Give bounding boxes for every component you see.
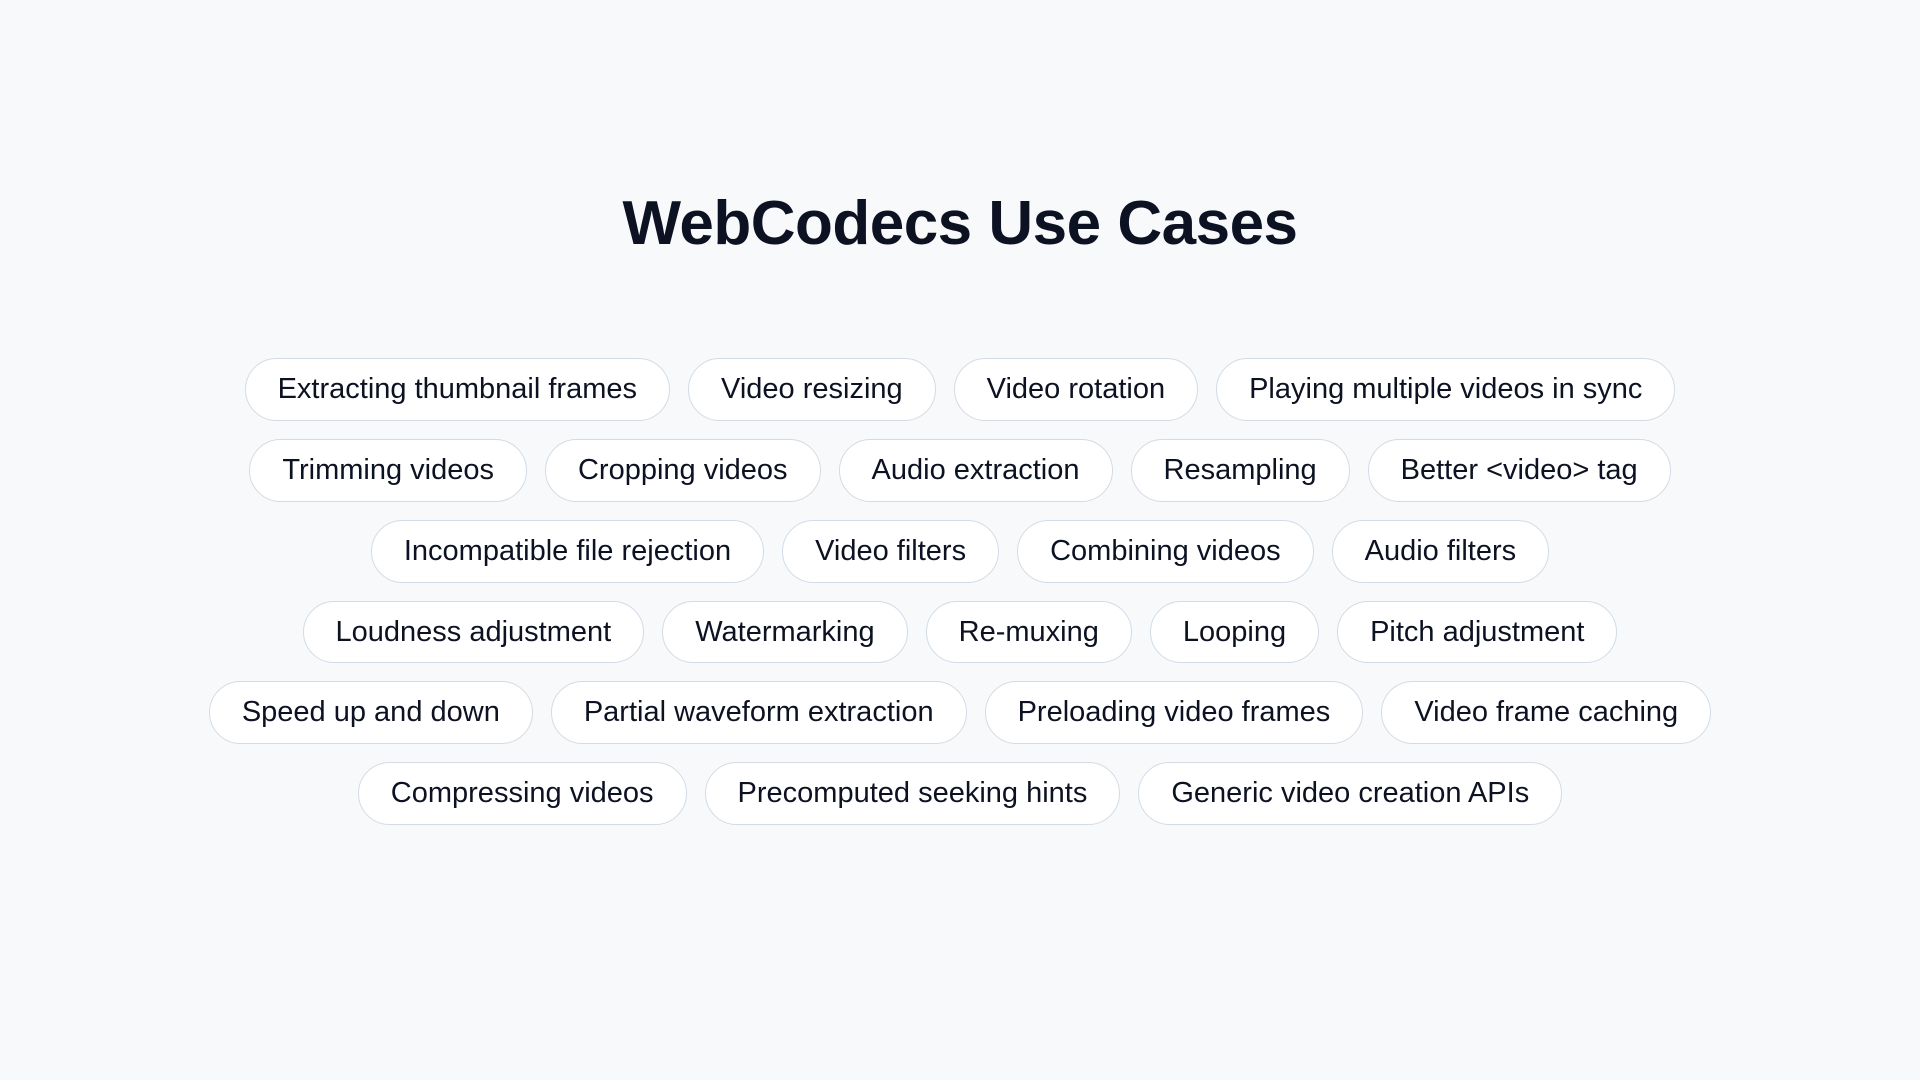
tag-row-3: Incompatible file rejection Video filter…: [130, 520, 1790, 583]
tag-pill[interactable]: Video filters: [782, 520, 999, 583]
page-root: WebCodecs Use Cases Extracting thumbnail…: [0, 0, 1920, 1080]
tag-pill[interactable]: Generic video creation APIs: [1138, 762, 1562, 825]
tag-pill[interactable]: Better <video> tag: [1368, 439, 1671, 502]
tag-row-1: Extracting thumbnail frames Video resizi…: [130, 358, 1790, 421]
tag-row-5: Speed up and down Partial waveform extra…: [130, 681, 1790, 744]
tag-pill[interactable]: Partial waveform extraction: [551, 681, 967, 744]
tag-pill[interactable]: Video resizing: [688, 358, 936, 421]
tag-pill[interactable]: Compressing videos: [358, 762, 687, 825]
tag-pill[interactable]: Preloading video frames: [985, 681, 1364, 744]
tag-pill[interactable]: Resampling: [1131, 439, 1350, 502]
tag-pill[interactable]: Incompatible file rejection: [371, 520, 764, 583]
tag-pill[interactable]: Combining videos: [1017, 520, 1314, 583]
tag-pill[interactable]: Re-muxing: [926, 601, 1132, 664]
tag-pill[interactable]: Audio filters: [1332, 520, 1550, 583]
tag-pill[interactable]: Video rotation: [954, 358, 1198, 421]
tag-cloud: Extracting thumbnail frames Video resizi…: [130, 358, 1790, 825]
tag-pill[interactable]: Trimming videos: [249, 439, 527, 502]
tag-pill[interactable]: Precomputed seeking hints: [705, 762, 1121, 825]
tag-pill[interactable]: Cropping videos: [545, 439, 821, 502]
tag-pill[interactable]: Playing multiple videos in sync: [1216, 358, 1675, 421]
tag-pill[interactable]: Extracting thumbnail frames: [245, 358, 670, 421]
tag-row-2: Trimming videos Cropping videos Audio ex…: [130, 439, 1790, 502]
tag-pill[interactable]: Looping: [1150, 601, 1319, 664]
tag-row-6: Compressing videos Precomputed seeking h…: [130, 762, 1790, 825]
tag-pill[interactable]: Speed up and down: [209, 681, 533, 744]
page-title: WebCodecs Use Cases: [622, 190, 1297, 258]
tag-pill[interactable]: Video frame caching: [1381, 681, 1711, 744]
tag-pill[interactable]: Audio extraction: [839, 439, 1113, 502]
tag-pill[interactable]: Pitch adjustment: [1337, 601, 1617, 664]
tag-row-4: Loudness adjustment Watermarking Re-muxi…: [130, 601, 1790, 664]
tag-pill[interactable]: Loudness adjustment: [303, 601, 645, 664]
tag-pill[interactable]: Watermarking: [662, 601, 907, 664]
